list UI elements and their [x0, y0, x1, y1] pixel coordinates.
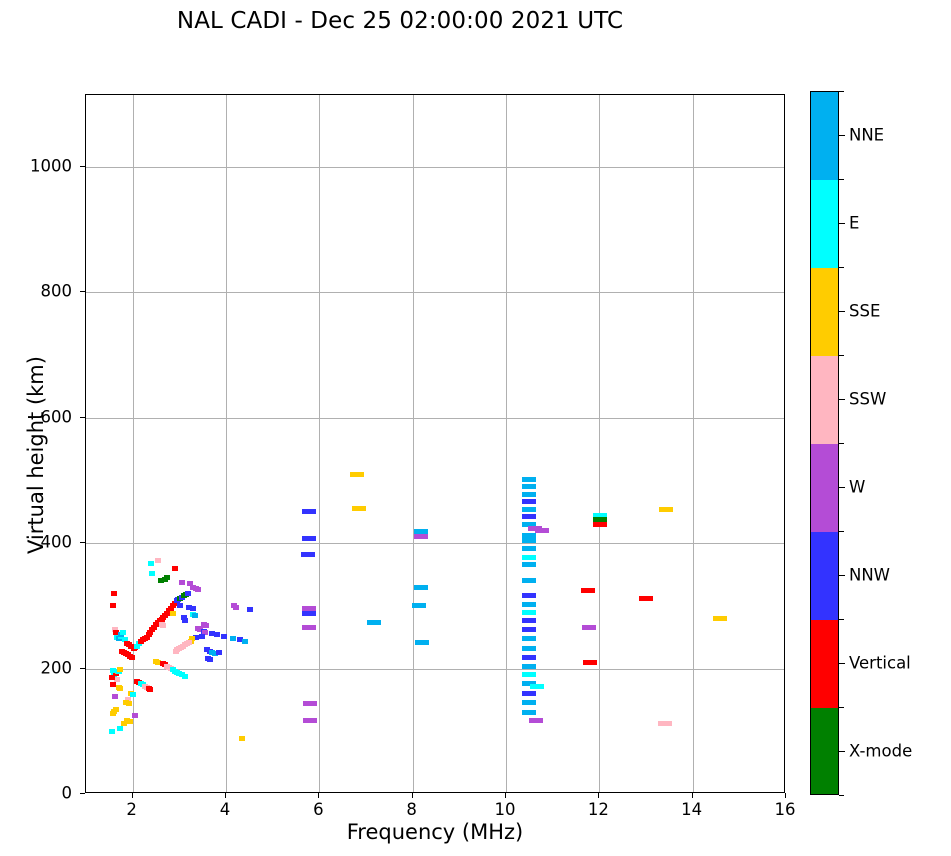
- data-mark: [113, 707, 119, 712]
- x-tick-label: 8: [406, 800, 417, 819]
- x-tick-label: 16: [775, 800, 796, 819]
- data-mark: [522, 484, 536, 489]
- data-mark: [352, 506, 366, 511]
- colorbar-tick: [839, 575, 845, 576]
- x-tick: [692, 793, 693, 798]
- y-axis-label: Virtual height (km): [24, 275, 48, 635]
- data-mark: [110, 682, 116, 687]
- gridline-vertical: [226, 95, 227, 792]
- x-tick-label: 12: [588, 800, 609, 819]
- plot-area[interactable]: [85, 94, 785, 793]
- x-tick: [132, 793, 133, 798]
- data-mark: [302, 536, 316, 541]
- data-mark: [199, 634, 205, 639]
- data-mark: [230, 636, 236, 641]
- colorbar-boundary-tick: [839, 795, 844, 796]
- colorbar-boundary-tick: [839, 619, 844, 620]
- data-mark: [109, 675, 115, 680]
- gridline-horizontal: [86, 418, 784, 419]
- colorbar-segment-nnw[interactable]: [811, 532, 838, 621]
- data-mark: [522, 610, 536, 615]
- x-tick-label: 14: [681, 800, 702, 819]
- data-mark: [303, 718, 317, 723]
- data-mark: [367, 620, 381, 625]
- data-mark: [522, 499, 536, 504]
- colorbar-tick: [839, 663, 845, 664]
- page-title: NAL CADI - Dec 25 02:00:00 2021 UTC: [0, 8, 800, 34]
- data-mark: [182, 618, 188, 623]
- data-mark: [303, 701, 317, 706]
- data-mark: [109, 729, 115, 734]
- y-tick: [80, 166, 85, 167]
- data-mark: [214, 632, 220, 637]
- data-mark: [522, 655, 536, 660]
- data-mark: [522, 618, 536, 623]
- colorbar-segment-vertical[interactable]: [811, 620, 838, 709]
- colorbar-boundary-tick: [839, 179, 844, 180]
- data-mark: [132, 713, 138, 718]
- x-tick-label: 10: [495, 800, 516, 819]
- data-mark: [120, 630, 126, 635]
- colorbar-label-sse: SSE: [849, 302, 880, 321]
- data-mark: [301, 552, 315, 557]
- data-mark: [522, 602, 536, 607]
- data-mark: [192, 613, 198, 618]
- data-mark: [530, 684, 544, 689]
- data-mark: [164, 575, 170, 580]
- data-mark: [110, 603, 116, 608]
- y-tick: [80, 417, 85, 418]
- gridline-horizontal: [86, 167, 784, 168]
- colorbar[interactable]: [810, 91, 839, 795]
- x-tick: [505, 793, 506, 798]
- gridline-vertical: [506, 95, 507, 792]
- data-mark: [522, 691, 536, 696]
- colorbar-tick: [839, 311, 845, 312]
- data-mark: [522, 578, 536, 583]
- data-mark: [233, 605, 239, 610]
- colorbar-segment-x-mode[interactable]: [811, 708, 838, 795]
- colorbar-tick: [839, 223, 845, 224]
- colorbar-tick: [839, 135, 845, 136]
- data-mark: [522, 477, 536, 482]
- data-mark: [522, 646, 536, 651]
- colorbar-tick: [839, 487, 845, 488]
- data-mark: [529, 718, 543, 723]
- ionogram-figure: NAL CADI - Dec 25 02:00:00 2021 UTC 2468…: [0, 0, 951, 856]
- y-tick-label: 1000: [0, 157, 72, 176]
- colorbar-label-x-mode: X-mode: [849, 742, 912, 761]
- data-mark: [659, 507, 673, 512]
- data-mark: [522, 593, 536, 598]
- data-mark: [639, 596, 653, 601]
- data-mark: [535, 528, 549, 533]
- data-mark: [522, 562, 536, 567]
- data-mark: [582, 625, 596, 630]
- data-mark: [522, 538, 536, 543]
- data-mark: [221, 634, 227, 639]
- colorbar-label-w: W: [849, 478, 865, 497]
- data-mark: [126, 701, 132, 706]
- data-mark: [414, 534, 428, 539]
- data-mark: [247, 607, 253, 612]
- data-mark: [658, 721, 672, 726]
- data-mark: [522, 555, 536, 560]
- colorbar-boundary-tick: [839, 355, 844, 356]
- x-tick: [598, 793, 599, 798]
- colorbar-label-nne: NNE: [849, 126, 884, 145]
- colorbar-segment-e[interactable]: [811, 180, 838, 269]
- data-mark: [522, 710, 536, 715]
- data-mark: [170, 611, 176, 616]
- data-mark: [149, 571, 155, 576]
- data-mark: [177, 603, 183, 608]
- data-mark: [522, 507, 536, 512]
- colorbar-tick: [839, 751, 845, 752]
- data-mark: [593, 522, 607, 527]
- colorbar-label-e: E: [849, 214, 859, 233]
- data-mark: [117, 667, 123, 672]
- data-mark: [207, 657, 213, 662]
- data-mark: [172, 566, 178, 571]
- x-tick: [225, 793, 226, 798]
- y-tick: [80, 291, 85, 292]
- data-mark: [195, 587, 201, 592]
- y-tick: [80, 542, 85, 543]
- data-mark: [412, 603, 426, 608]
- x-tick: [412, 793, 413, 798]
- data-mark: [350, 472, 364, 477]
- data-mark: [522, 627, 536, 632]
- data-mark: [110, 668, 116, 673]
- data-mark: [239, 736, 245, 741]
- colorbar-boundary-tick: [839, 267, 844, 268]
- x-axis-label: Frequency (MHz): [85, 820, 785, 844]
- data-mark: [583, 660, 597, 665]
- data-mark: [713, 616, 727, 621]
- data-mark: [242, 639, 248, 644]
- data-mark: [302, 509, 316, 514]
- data-mark: [160, 623, 166, 628]
- data-mark: [155, 558, 161, 563]
- colorbar-tick: [839, 399, 845, 400]
- data-mark: [111, 591, 117, 596]
- data-mark: [129, 655, 135, 660]
- data-mark: [522, 664, 536, 669]
- data-mark: [302, 625, 316, 630]
- gridline-vertical: [693, 95, 694, 792]
- data-mark: [190, 606, 196, 611]
- data-mark: [127, 719, 133, 724]
- gridline-vertical: [413, 95, 414, 792]
- gridline-horizontal: [86, 669, 784, 670]
- colorbar-boundary-tick: [839, 531, 844, 532]
- colorbar-boundary-tick: [839, 91, 844, 92]
- data-mark: [522, 514, 536, 519]
- data-mark: [112, 694, 118, 699]
- data-mark: [415, 640, 429, 645]
- colorbar-segment-nne[interactable]: [811, 92, 838, 181]
- colorbar-segment-sse[interactable]: [811, 268, 838, 357]
- x-tick-label: 4: [220, 800, 231, 819]
- data-mark: [173, 649, 179, 654]
- data-mark: [148, 561, 154, 566]
- colorbar-boundary-tick: [839, 443, 844, 444]
- x-tick: [785, 793, 786, 798]
- gridline-vertical: [319, 95, 320, 792]
- x-tick: [318, 793, 319, 798]
- data-mark: [185, 591, 191, 596]
- colorbar-boundary-tick: [839, 707, 844, 708]
- data-mark: [147, 687, 153, 692]
- data-mark: [522, 636, 536, 641]
- gridline-horizontal: [86, 543, 784, 544]
- data-mark: [581, 588, 595, 593]
- data-mark: [182, 674, 188, 679]
- data-mark: [414, 585, 428, 590]
- colorbar-label-ssw: SSW: [849, 390, 886, 409]
- data-mark: [117, 686, 123, 691]
- data-mark: [117, 726, 123, 731]
- x-tick-label: 2: [126, 800, 137, 819]
- y-tick: [80, 793, 85, 794]
- data-mark: [179, 580, 185, 585]
- data-mark: [302, 611, 316, 616]
- gridline-horizontal: [86, 292, 784, 293]
- y-tick-label: 200: [0, 658, 72, 677]
- data-mark: [522, 492, 536, 497]
- y-tick-label: 0: [0, 784, 72, 803]
- colorbar-segment-w[interactable]: [811, 444, 838, 533]
- data-mark: [522, 546, 536, 551]
- data-mark: [522, 672, 536, 677]
- gridline-vertical: [599, 95, 600, 792]
- colorbar-segment-ssw[interactable]: [811, 356, 838, 445]
- colorbar-label-nnw: NNW: [849, 566, 890, 585]
- data-mark: [216, 650, 222, 655]
- x-tick-label: 6: [313, 800, 324, 819]
- gridline-vertical: [133, 95, 134, 792]
- data-mark: [203, 623, 209, 628]
- data-mark: [522, 700, 536, 705]
- colorbar-label-vertical: Vertical: [849, 654, 911, 673]
- y-tick: [80, 668, 85, 669]
